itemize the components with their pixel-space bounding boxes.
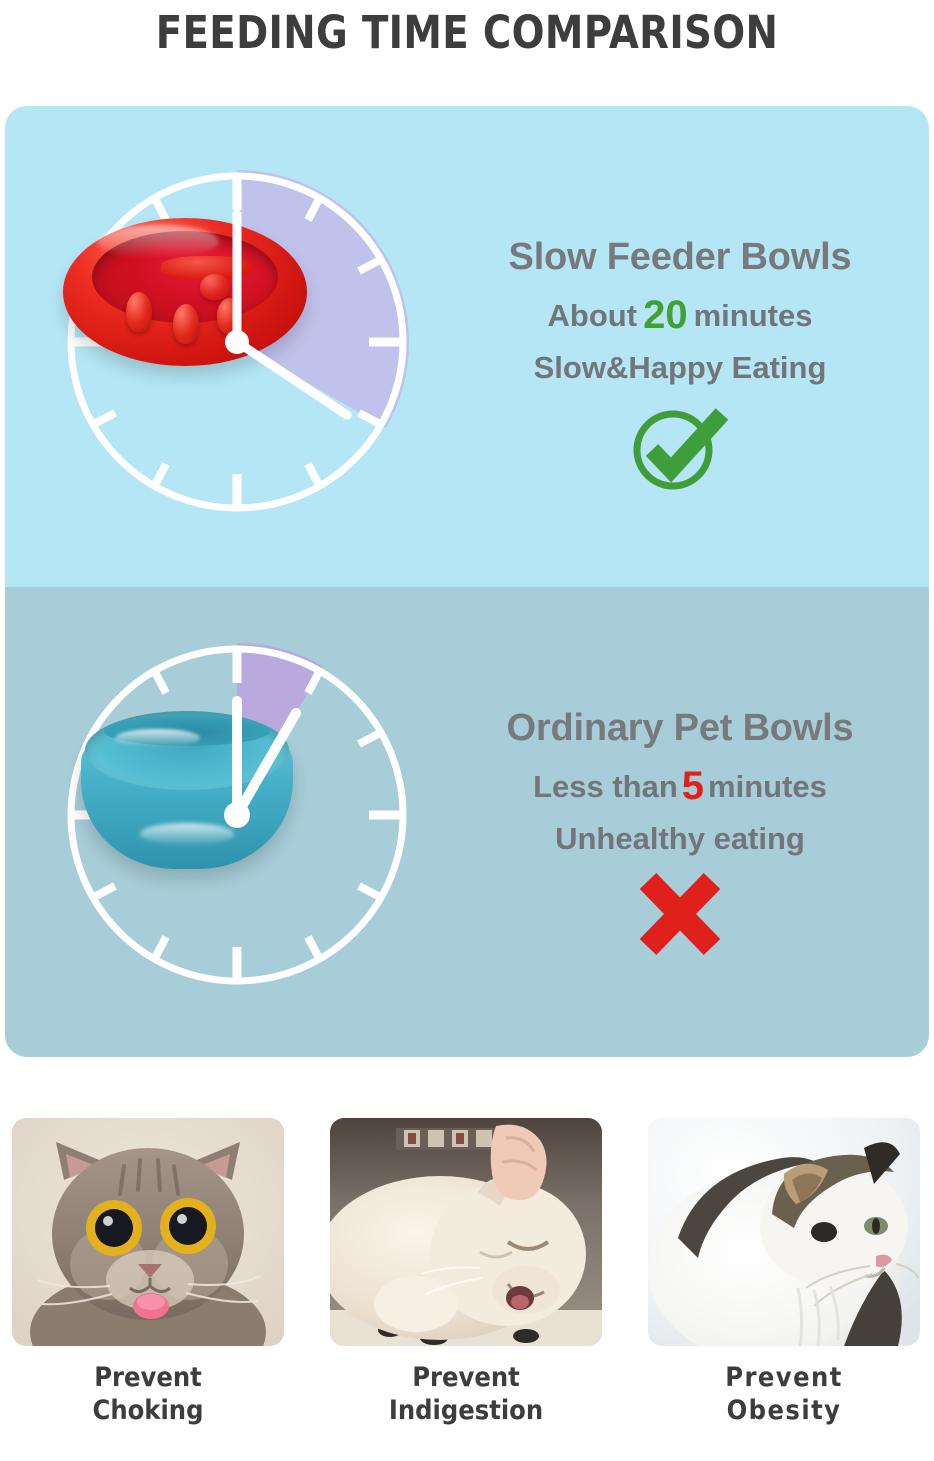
benefit-caption-line2: Choking (26, 1395, 271, 1428)
benefit-card: Prevent Choking (12, 1118, 284, 1428)
text-column-slow-feeder: Slow Feeder Bowls About20minutes Slow&Ha… (445, 236, 915, 499)
benefit-caption-line2: Indigestion (344, 1395, 589, 1428)
benefit-caption: Prevent Obesity (662, 1362, 907, 1428)
time-unit-slow-feeder: minutes (694, 298, 813, 333)
time-line-ordinary-bowl: Less than5minutes (445, 764, 915, 809)
benefit-caption: Prevent Choking (26, 1362, 271, 1428)
cross-mark-icon (632, 871, 728, 962)
benefit-caption-line1: Prevent (725, 1362, 843, 1393)
benefit-card: Prevent Indigestion (330, 1118, 602, 1428)
cat-photo-indigestion (330, 1118, 602, 1346)
benefit-card: Prevent Obesity (648, 1118, 920, 1428)
note-ordinary-bowl: Unhealthy eating (445, 821, 915, 857)
cat-photo-obesity (648, 1118, 920, 1346)
text-column-ordinary-bowl: Ordinary Pet Bowls Less than5minutes Unh… (445, 707, 915, 962)
time-prefix-ordinary-bowl: Less than (533, 769, 678, 804)
time-line-slow-feeder: About20minutes (445, 293, 915, 338)
comparison-panel-ordinary-bowl: Ordinary Pet Bowls Less than5minutes Unh… (5, 587, 929, 1057)
heading-slow-feeder: Slow Feeder Bowls (445, 236, 915, 279)
comparison-panel-slow-feeder: Slow Feeder Bowls About20minutes Slow&Ha… (5, 106, 929, 587)
page-title: FEEDING TIME COMPARISON (65, 0, 868, 64)
benefit-caption-line1: Prevent (412, 1362, 520, 1393)
time-value-slow-feeder: 20 (637, 293, 694, 337)
time-prefix-slow-feeder: About (548, 298, 638, 333)
verdict-ordinary-bowl (445, 871, 915, 962)
heading-ordinary-bowl: Ordinary Pet Bowls (445, 707, 915, 750)
check-circle-icon (626, 400, 734, 499)
verdict-slow-feeder (445, 400, 915, 499)
time-value-ordinary-bowl: 5 (678, 764, 708, 808)
benefit-caption-line1: Prevent (94, 1362, 202, 1393)
benefit-caption: Prevent Indigestion (344, 1362, 589, 1428)
clock-hands-ordinary-bowl (57, 635, 417, 995)
benefit-caption-line2: Obesity (662, 1395, 907, 1428)
note-slow-feeder: Slow&Happy Eating (445, 350, 915, 386)
clock-hands-slow-feeder (57, 162, 417, 522)
time-unit-ordinary-bowl: minutes (708, 769, 827, 804)
cat-photo-choking (12, 1118, 284, 1346)
benefit-card-list: Prevent Choking (0, 1118, 934, 1461)
